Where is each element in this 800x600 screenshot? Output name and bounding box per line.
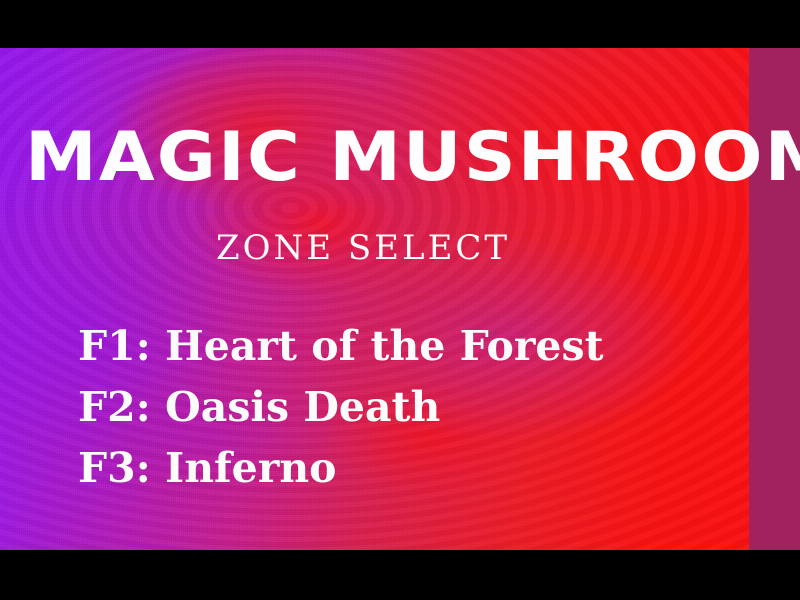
zone-menu-list: F1: Heart of the Forest F2: Oasis Death … (78, 316, 604, 499)
zone-select-heading: ZONE SELECT (216, 231, 510, 265)
zone-menu-item-f3[interactable]: F3: Inferno (78, 438, 604, 499)
game-title: MAGIC MUSHROOM (25, 124, 778, 192)
game-screen: MAGIC MUSHROOM ZONE SELECT F1: Heart of … (0, 0, 800, 600)
zone-menu-item-f2[interactable]: F2: Oasis Death (78, 377, 604, 438)
zone-menu-item-f1[interactable]: F1: Heart of the Forest (78, 316, 604, 377)
letterbox-top-bar (0, 0, 800, 48)
letterbox-bottom-bar (0, 550, 800, 600)
screen-content: MAGIC MUSHROOM ZONE SELECT F1: Heart of … (0, 48, 749, 550)
